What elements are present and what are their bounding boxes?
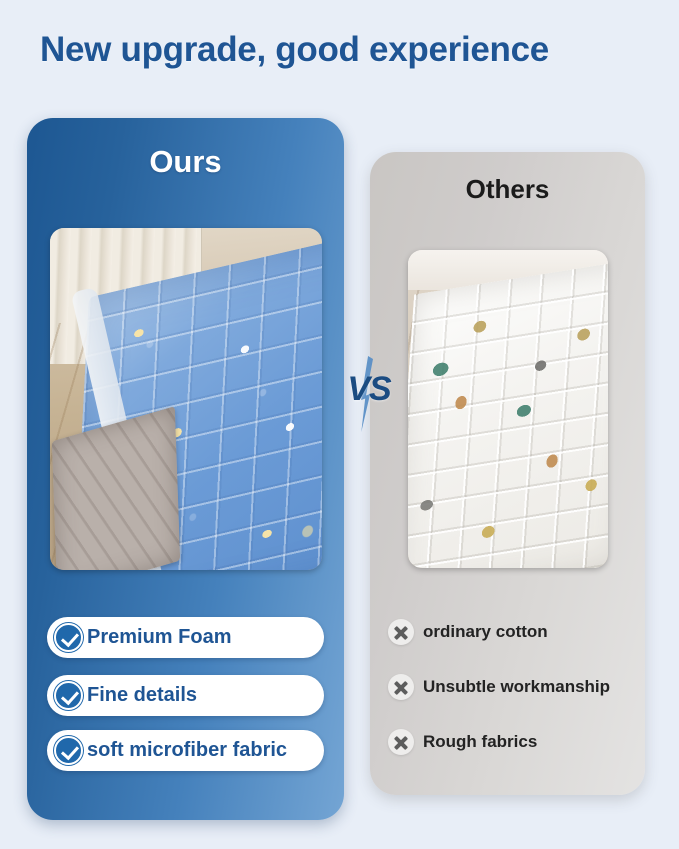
comparison-panel-ours: Ours Premium Foam Fine details soft micr… <box>27 118 344 820</box>
con-label: Unsubtle workmanship <box>423 677 610 697</box>
check-circle-icon <box>54 623 83 652</box>
product-photo-others <box>408 250 608 568</box>
con-label: Rough fabrics <box>423 732 537 752</box>
feature-pill-2: soft microfiber fabric <box>47 730 324 771</box>
con-row-0: ordinary cotton <box>388 619 548 645</box>
feature-pill-1: Fine details <box>47 675 324 716</box>
feature-pill-0: Premium Foam <box>47 617 324 658</box>
white-quilted-mat <box>408 258 608 568</box>
con-label: ordinary cotton <box>423 622 548 642</box>
feature-label: Premium Foam <box>87 626 231 649</box>
check-circle-icon <box>54 681 83 710</box>
x-circle-icon <box>388 619 414 645</box>
feature-label: soft microfiber fabric <box>87 739 287 762</box>
con-row-1: Unsubtle workmanship <box>388 674 610 700</box>
x-circle-icon <box>388 674 414 700</box>
comparison-panel-others: Others ordinary cotton Unsubtle workmans… <box>370 152 645 795</box>
versus-badge: VS <box>336 356 402 432</box>
check-circle-icon <box>54 736 83 765</box>
others-heading: Others <box>370 174 645 205</box>
ours-heading: Ours <box>27 144 344 180</box>
animal-tree-pattern <box>408 258 608 568</box>
con-row-2: Rough fabrics <box>388 729 537 755</box>
versus-label: VS <box>336 370 402 409</box>
product-photo-ours <box>50 228 322 570</box>
feature-label: Fine details <box>87 684 197 707</box>
x-circle-icon <box>388 729 414 755</box>
page-title: New upgrade, good experience <box>40 30 549 70</box>
